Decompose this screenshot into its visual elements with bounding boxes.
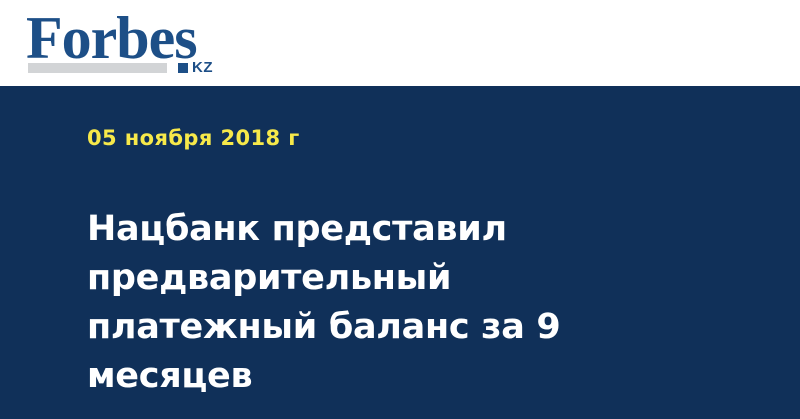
article-headline[interactable]: Нацбанк представил предварительный плате… (87, 205, 687, 401)
logo-kz-label: KZ (192, 60, 213, 75)
logo-square-icon (178, 63, 188, 73)
forbes-wordmark: Forbes (26, 8, 197, 68)
article-body: 05 ноября 2018 г Нацбанк представил пред… (0, 86, 800, 419)
forbes-kz-logo[interactable]: Forbes KZ (26, 8, 236, 78)
publish-date: 05 ноября 2018 г (87, 126, 300, 150)
site-header: Forbes KZ (0, 0, 800, 86)
logo-underbar-icon (28, 63, 167, 73)
article-card: Forbes KZ 05 ноября 2018 г Нацбанк предс… (0, 0, 800, 419)
